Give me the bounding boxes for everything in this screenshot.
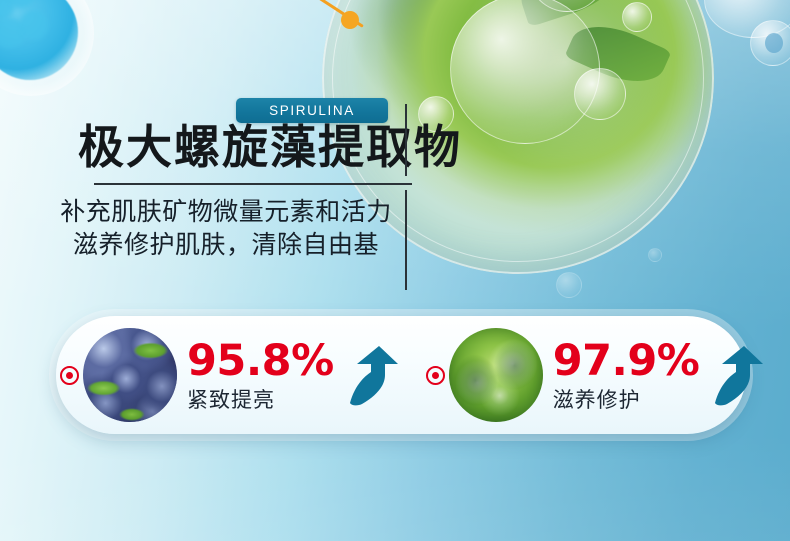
up-arrow-icon (348, 344, 400, 406)
subtitle-line-1: 补充肌肤矿物微量元素和活力 (40, 196, 412, 229)
stat-text-group: 95.8% 紧致提亮 (187, 340, 334, 411)
subtitle-block: 补充肌肤矿物微量元素和活力 滋养修护肌肤，清除自由基 (40, 196, 412, 261)
stat-item: 95.8% 紧致提亮 (60, 316, 400, 434)
vertical-divider-upper (405, 104, 407, 176)
target-icon (426, 366, 445, 385)
decorative-bubble (750, 20, 790, 66)
product-promo-poster: SPIRULINA 极大螺旋藻提取物 补充肌肤矿物微量元素和活力 滋养修护肌肤，… (0, 0, 790, 541)
up-arrow-icon (713, 344, 765, 406)
bottom-gradient-band (0, 433, 790, 541)
stat-label: 滋养修护 (553, 390, 700, 411)
stats-row: 95.8% 紧致提亮 97.9% 滋养修护 (56, 316, 746, 434)
stats-capsule: 95.8% 紧致提亮 97.9% 滋养修护 (56, 316, 746, 434)
subtitle-line-2: 滋养修护肌肤，清除自由基 (40, 229, 412, 262)
stat-item: 97.9% 滋养修护 (426, 316, 766, 434)
cell-blob (20, 10, 48, 40)
vertical-divider-lower (405, 190, 407, 290)
title-underline-rule (94, 183, 412, 185)
stat-percent: 97.9% (553, 340, 700, 383)
decorative-bubble (648, 248, 662, 262)
spirulina-badge-label: SPIRULINA (269, 103, 355, 118)
stat-text-group: 97.9% 滋养修护 (553, 340, 700, 411)
orange-accent-dot (341, 11, 359, 29)
target-icon (60, 366, 79, 385)
stat-percent: 95.8% (187, 340, 334, 383)
algae-thumbnail (449, 328, 543, 422)
blueberries-thumbnail (83, 328, 177, 422)
decorative-bubble (556, 272, 582, 298)
stat-label: 紧致提亮 (187, 390, 334, 411)
